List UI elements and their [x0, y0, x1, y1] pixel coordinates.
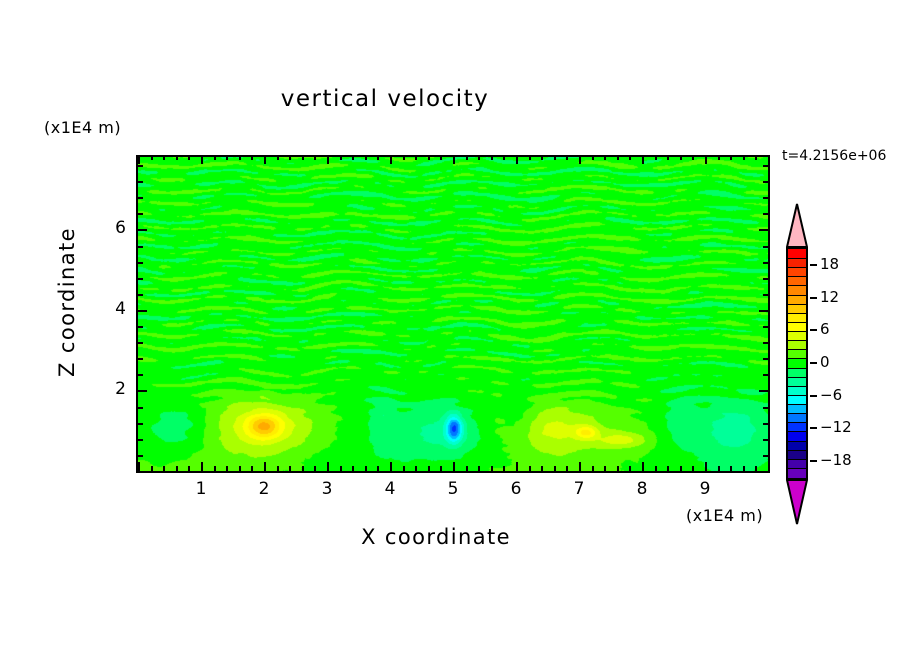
- colorbar-band-separator: [788, 368, 806, 369]
- x-minor-tick-top: [503, 155, 505, 160]
- y-tick-label: 2: [100, 379, 126, 399]
- colorbar-band-separator: [788, 422, 806, 423]
- x-minor-tick: [163, 466, 165, 471]
- colorbar-band-separator: [788, 441, 806, 442]
- y-tick-label: 4: [100, 299, 126, 319]
- x-tick-label: 8: [627, 479, 657, 499]
- x-major-tick-top: [705, 155, 707, 164]
- x-minor-tick-top: [718, 155, 720, 160]
- colorbar-band-separator: [788, 322, 806, 323]
- y-minor-tick-right: [763, 213, 768, 215]
- x-minor-tick-top: [629, 155, 631, 160]
- x-major-tick-top: [516, 155, 518, 164]
- x-minor-tick-top: [692, 155, 694, 160]
- colorbar-tick: [810, 264, 817, 266]
- y-axis-title: Z coordinate: [55, 202, 79, 402]
- colorbar-band-separator: [788, 431, 806, 432]
- x-minor-tick: [428, 466, 430, 471]
- x-minor-tick: [566, 466, 568, 471]
- y-minor-tick-right: [763, 246, 768, 248]
- x-minor-tick: [592, 466, 594, 471]
- x-minor-tick: [755, 466, 757, 471]
- colorbar-band-separator: [788, 331, 806, 332]
- y-major-tick: [138, 390, 147, 392]
- x-major-tick: [264, 462, 266, 471]
- figure-canvas: vertical velocity (x1E4 m) (x1E4 m) X co…: [0, 0, 904, 654]
- y-minor-tick-right: [763, 278, 768, 280]
- x-major-tick: [201, 462, 203, 471]
- colorbar-band-separator: [788, 285, 806, 286]
- colorbar-band-separator: [788, 340, 806, 341]
- x-minor-tick: [718, 466, 720, 471]
- y-minor-tick-right: [763, 342, 768, 344]
- x-minor-tick: [617, 466, 619, 471]
- x-minor-tick: [176, 466, 178, 471]
- x-minor-tick: [655, 466, 657, 471]
- y-tick-label: 6: [100, 218, 126, 238]
- y-minor-tick-right: [763, 165, 768, 167]
- colorbar-band-separator: [788, 468, 806, 469]
- x-tick-label: 9: [690, 479, 720, 499]
- y-axis-unit-label: (x1E4 m): [44, 118, 121, 137]
- x-major-tick: [642, 462, 644, 471]
- x-major-tick: [390, 462, 392, 471]
- colorbar-tick: [810, 329, 817, 331]
- colorbar-band-separator: [788, 413, 806, 414]
- colorbar-band-separator: [788, 304, 806, 305]
- colorbar-tick-label: 0: [820, 353, 830, 371]
- y-minor-tick: [138, 213, 143, 215]
- colorbar-band-separator: [788, 459, 806, 460]
- x-minor-tick: [251, 466, 253, 471]
- x-minor-tick: [289, 466, 291, 471]
- colorbar-tick-label: 18: [820, 255, 839, 273]
- y-minor-tick-right: [763, 439, 768, 441]
- x-minor-tick-top: [592, 155, 594, 160]
- x-minor-tick: [377, 466, 379, 471]
- y-minor-tick: [138, 246, 143, 248]
- x-minor-tick: [503, 466, 505, 471]
- x-tick-label: 1: [186, 479, 216, 499]
- x-minor-tick-top: [466, 155, 468, 160]
- y-minor-tick: [138, 455, 143, 457]
- x-minor-tick-top: [604, 155, 606, 160]
- y-minor-tick-right: [763, 358, 768, 360]
- x-minor-tick: [188, 466, 190, 471]
- x-axis-unit-label: (x1E4 m): [686, 506, 763, 525]
- y-minor-tick: [138, 374, 143, 376]
- y-major-tick-right: [759, 229, 768, 231]
- y-minor-tick-right: [763, 294, 768, 296]
- y-minor-tick-right: [763, 181, 768, 183]
- x-tick-label: 3: [312, 479, 342, 499]
- contour-plot-area: [136, 155, 770, 473]
- colorbar-band-separator: [788, 386, 806, 387]
- colorbar-tick-label: −18: [820, 451, 852, 469]
- x-major-tick: [579, 462, 581, 471]
- x-minor-tick: [554, 466, 556, 471]
- x-minor-tick-top: [239, 155, 241, 160]
- x-minor-tick: [667, 466, 669, 471]
- y-major-tick: [138, 471, 147, 473]
- colorbar-band-separator: [788, 395, 806, 396]
- x-minor-tick: [604, 466, 606, 471]
- x-minor-tick: [403, 466, 405, 471]
- x-minor-tick-top: [415, 155, 417, 160]
- colorbar-tick: [810, 427, 817, 429]
- colorbar-tick-label: −6: [820, 386, 842, 404]
- x-minor-tick: [214, 466, 216, 471]
- x-minor-tick: [466, 466, 468, 471]
- x-major-tick: [705, 462, 707, 471]
- x-minor-tick: [743, 466, 745, 471]
- x-minor-tick-top: [491, 155, 493, 160]
- x-minor-tick-top: [365, 155, 367, 160]
- x-axis-title: X coordinate: [286, 525, 586, 549]
- x-tick-label: 7: [564, 479, 594, 499]
- x-minor-tick: [239, 466, 241, 471]
- x-minor-tick: [478, 466, 480, 471]
- x-minor-tick: [440, 466, 442, 471]
- colorbar-band-separator: [788, 276, 806, 277]
- y-minor-tick: [138, 278, 143, 280]
- x-minor-tick: [629, 466, 631, 471]
- x-minor-tick-top: [566, 155, 568, 160]
- x-minor-tick: [352, 466, 354, 471]
- x-minor-tick-top: [755, 155, 757, 160]
- x-minor-tick: [365, 466, 367, 471]
- x-minor-tick: [529, 466, 531, 471]
- x-minor-tick-top: [277, 155, 279, 160]
- y-major-tick-right: [759, 471, 768, 473]
- colorbar-bands: [786, 247, 808, 479]
- x-minor-tick: [302, 466, 304, 471]
- y-minor-tick: [138, 326, 143, 328]
- y-minor-tick-right: [763, 455, 768, 457]
- x-major-tick-top: [201, 155, 203, 164]
- colorbar-tick-label: 12: [820, 288, 839, 306]
- y-minor-tick: [138, 342, 143, 344]
- x-tick-label: 4: [375, 479, 405, 499]
- x-minor-tick: [277, 466, 279, 471]
- x-minor-tick-top: [655, 155, 657, 160]
- x-major-tick-top: [327, 155, 329, 164]
- x-minor-tick-top: [478, 155, 480, 160]
- contour-field: [138, 157, 768, 471]
- x-minor-tick-top: [340, 155, 342, 160]
- x-major-tick-top: [264, 155, 266, 164]
- colorbar-tick: [810, 362, 817, 364]
- x-minor-tick: [314, 466, 316, 471]
- y-minor-tick: [138, 423, 143, 425]
- y-minor-tick: [138, 262, 143, 264]
- x-minor-tick: [340, 466, 342, 471]
- colorbar-band-separator: [788, 295, 806, 296]
- x-minor-tick-top: [541, 155, 543, 160]
- x-minor-tick-top: [302, 155, 304, 160]
- x-minor-tick: [730, 466, 732, 471]
- y-major-tick-right: [759, 310, 768, 312]
- colorbar-band-separator: [788, 404, 806, 405]
- x-major-tick-top: [453, 155, 455, 164]
- colorbar-band-separator: [788, 267, 806, 268]
- y-minor-tick-right: [763, 262, 768, 264]
- colorbar-tick: [810, 297, 817, 299]
- y-minor-tick: [138, 181, 143, 183]
- y-minor-tick-right: [763, 374, 768, 376]
- colorbar-band-separator: [788, 377, 806, 378]
- colorbar-band-separator: [788, 313, 806, 314]
- colorbar-tick-label: 6: [820, 320, 830, 338]
- colorbar-band-separator: [788, 450, 806, 451]
- x-minor-tick-top: [214, 155, 216, 160]
- colorbar-tick: [810, 460, 817, 462]
- y-minor-tick: [138, 294, 143, 296]
- y-minor-tick-right: [763, 407, 768, 409]
- colorbar-over-arrow: [786, 203, 808, 248]
- x-major-tick: [138, 462, 140, 471]
- x-tick-label: 5: [438, 479, 468, 499]
- x-minor-tick-top: [314, 155, 316, 160]
- x-major-tick-top: [138, 155, 140, 164]
- y-minor-tick-right: [763, 423, 768, 425]
- x-tick-label: 6: [501, 479, 531, 499]
- x-minor-tick-top: [151, 155, 153, 160]
- x-minor-tick: [415, 466, 417, 471]
- y-minor-tick-right: [763, 197, 768, 199]
- y-minor-tick-right: [763, 326, 768, 328]
- y-minor-tick: [138, 439, 143, 441]
- x-minor-tick-top: [289, 155, 291, 160]
- colorbar-tick-label: −12: [820, 418, 852, 436]
- x-major-tick: [768, 462, 770, 471]
- x-major-tick: [516, 462, 518, 471]
- page-title: vertical velocity: [0, 86, 770, 112]
- x-major-tick-top: [390, 155, 392, 164]
- x-minor-tick: [151, 466, 153, 471]
- x-minor-tick-top: [730, 155, 732, 160]
- y-minor-tick: [138, 197, 143, 199]
- x-major-tick-top: [768, 155, 770, 164]
- x-minor-tick-top: [226, 155, 228, 160]
- x-minor-tick: [692, 466, 694, 471]
- x-minor-tick-top: [617, 155, 619, 160]
- x-minor-tick: [680, 466, 682, 471]
- x-minor-tick-top: [667, 155, 669, 160]
- x-major-tick-top: [642, 155, 644, 164]
- colorbar-band: [788, 468, 806, 478]
- y-major-tick-right: [759, 390, 768, 392]
- x-minor-tick-top: [352, 155, 354, 160]
- x-minor-tick-top: [163, 155, 165, 160]
- x-major-tick-top: [579, 155, 581, 164]
- x-minor-tick-top: [176, 155, 178, 160]
- x-minor-tick-top: [377, 155, 379, 160]
- colorbar-band-separator: [788, 358, 806, 359]
- y-minor-tick: [138, 407, 143, 409]
- x-minor-tick-top: [403, 155, 405, 160]
- x-minor-tick: [541, 466, 543, 471]
- x-minor-tick-top: [251, 155, 253, 160]
- x-minor-tick-top: [680, 155, 682, 160]
- x-major-tick: [327, 462, 329, 471]
- colorbar-band-separator: [788, 258, 806, 259]
- colorbar-under-arrow: [786, 478, 808, 525]
- x-minor-tick-top: [743, 155, 745, 160]
- timestamp-annotation: t=4.2156e+06: [782, 148, 886, 164]
- x-minor-tick-top: [529, 155, 531, 160]
- y-major-tick: [138, 310, 147, 312]
- x-minor-tick: [226, 466, 228, 471]
- colorbar-tick: [810, 395, 817, 397]
- x-minor-tick-top: [440, 155, 442, 160]
- y-minor-tick: [138, 358, 143, 360]
- x-minor-tick-top: [428, 155, 430, 160]
- colorbar[interactable]: 181260−6−12−18: [780, 203, 904, 525]
- x-minor-tick-top: [188, 155, 190, 160]
- x-minor-tick: [491, 466, 493, 471]
- y-minor-tick: [138, 165, 143, 167]
- x-major-tick: [453, 462, 455, 471]
- x-tick-label: 2: [249, 479, 279, 499]
- x-minor-tick-top: [554, 155, 556, 160]
- y-major-tick: [138, 229, 147, 231]
- colorbar-band-separator: [788, 349, 806, 350]
